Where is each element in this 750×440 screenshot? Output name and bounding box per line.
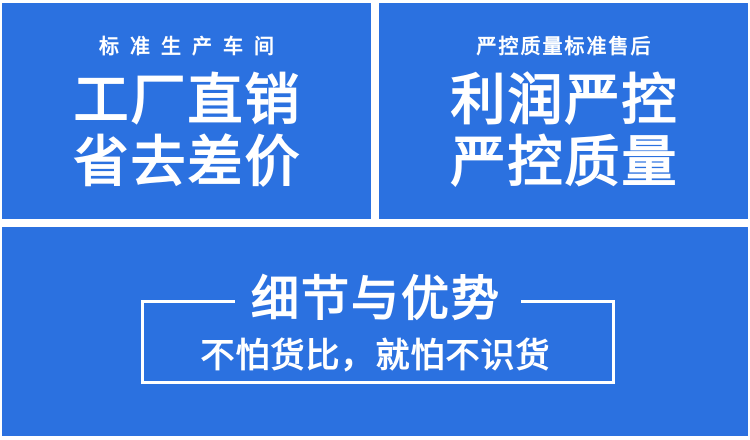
top-right-headline: 利润严控 严控质量 [379,69,748,193]
top-left-eyebrow-text: 标准生产车间 [2,30,371,59]
panel-top-right: 严控质量标准售后 利润严控 严控质量 [379,3,748,219]
top-left-headline-line2: 省去差价 [2,131,371,193]
panel-top-left: 标准生产车间 工厂直销 省去差价 [2,3,371,219]
top-right-headline-line2: 严控质量 [379,131,748,193]
bottom-panel-title: 细节与优势 [2,271,748,329]
panel-bottom: 细节与优势 不怕货比，就怕不识货 [2,227,748,436]
top-right-headline-line1: 利润严控 [379,69,748,131]
promo-banner: 标准生产车间 工厂直销 省去差价 严控质量标准售后 利润严控 严控质量 细节与优… [0,0,750,440]
top-left-headline-line1: 工厂直销 [2,69,371,131]
top-left-headline: 工厂直销 省去差价 [2,69,371,193]
bottom-panel-subtitle: 不怕货比，就怕不识货 [2,335,748,377]
top-right-eyebrow-text: 严控质量标准售后 [379,30,748,59]
